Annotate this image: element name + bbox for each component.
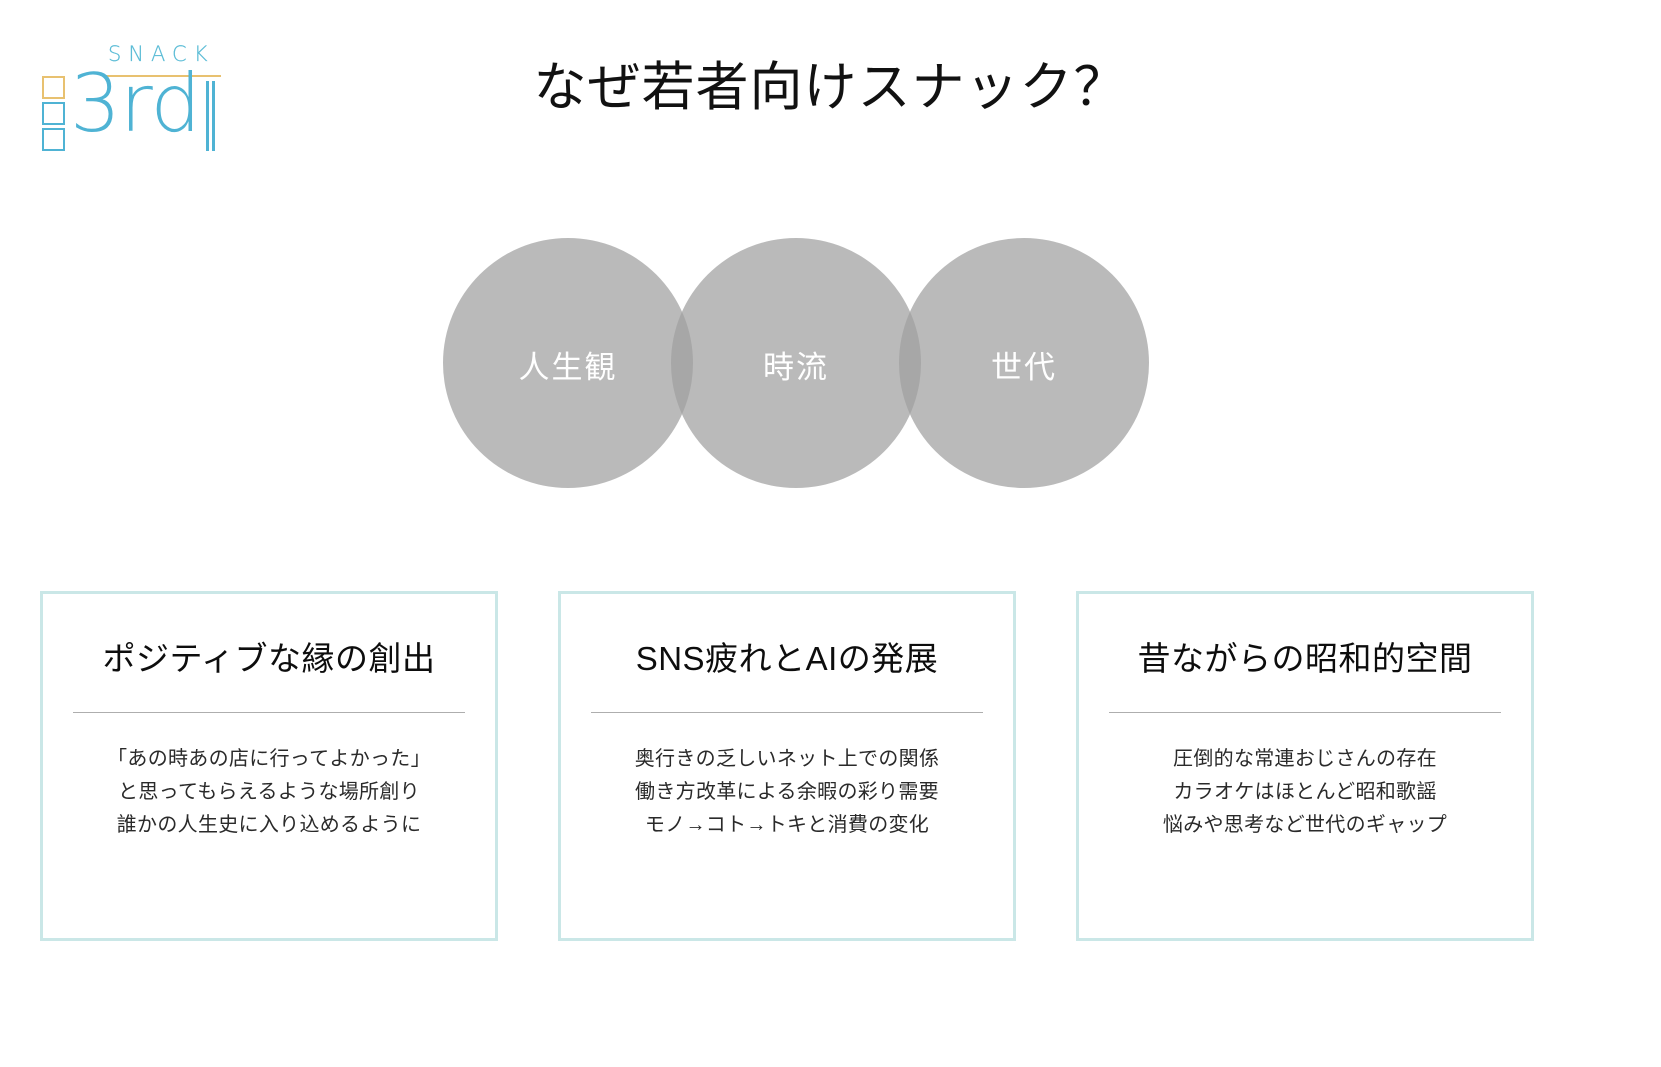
card-body-line: 圧倒的な常連おじさんの存在: [1101, 743, 1509, 776]
card-title: 昔ながらの昭和的空間: [1101, 638, 1509, 680]
card-divider: [591, 712, 983, 713]
logo-square-blue-lower: [42, 128, 65, 151]
card-body: 圧倒的な常連おじさんの存在 カラオケはほとんど昭和歌謡 悩みや思考など世代のギャ…: [1101, 743, 1509, 842]
card-divider: [73, 712, 465, 713]
venn-circle-3: 世代: [899, 238, 1149, 488]
venn-circle-1: 人生観: [443, 238, 693, 488]
card-body-line: 悩みや思考など世代のギャップ: [1101, 809, 1509, 842]
venn-circle-1-label: 人生観: [519, 342, 618, 387]
card-body: 奥行きの乏しいネット上での関係 働き方改革による余暇の彩り需要 モノ→コト→トキ…: [583, 743, 991, 842]
card-body-line: モノ→コト→トキと消費の変化: [583, 809, 991, 842]
card-sns-fatigue-ai: SNS疲れとAIの発展 奥行きの乏しいネット上での関係 働き方改革による余暇の彩…: [558, 591, 1016, 941]
card-body-line: と思ってもらえるような場所創り: [65, 776, 473, 809]
venn-circle-2: 時流: [671, 238, 921, 488]
card-body-line: 奥行きの乏しいネット上での関係: [583, 743, 991, 776]
card-showa-atmosphere: 昔ながらの昭和的空間 圧倒的な常連おじさんの存在 カラオケはほとんど昭和歌謡 悩…: [1076, 591, 1534, 941]
venn-circle-2-label: 時流: [763, 342, 829, 387]
card-body-line: 働き方改革による余暇の彩り需要: [583, 776, 991, 809]
slide-canvas: SNACK 3rd なぜ若者向けスナック？ 人生観 時流 世代 ポジティブな縁の…: [0, 0, 1661, 1067]
card-body: 「あの時あの店に行ってよかった」 と思ってもらえるような場所創り 誰かの人生史に…: [65, 743, 473, 842]
page-title: なぜ若者向けスナック？: [0, 57, 1661, 119]
card-title: ポジティブな縁の創出: [65, 638, 473, 680]
card-positive-connections: ポジティブな縁の創出 「あの時あの店に行ってよかった」 と思ってもらえるような場…: [40, 591, 498, 941]
card-body-line: 「あの時あの店に行ってよかった」: [65, 743, 473, 776]
card-divider: [1109, 712, 1501, 713]
venn-diagram: 人生観 時流 世代: [443, 238, 1149, 493]
card-row: ポジティブな縁の創出 「あの時あの店に行ってよかった」 と思ってもらえるような場…: [40, 591, 1621, 941]
card-title: SNS疲れとAIの発展: [583, 638, 991, 680]
card-body-line: 誰かの人生史に入り込めるように: [65, 809, 473, 842]
venn-circle-3-label: 世代: [991, 342, 1057, 387]
card-body-line: カラオケはほとんど昭和歌謡: [1101, 776, 1509, 809]
